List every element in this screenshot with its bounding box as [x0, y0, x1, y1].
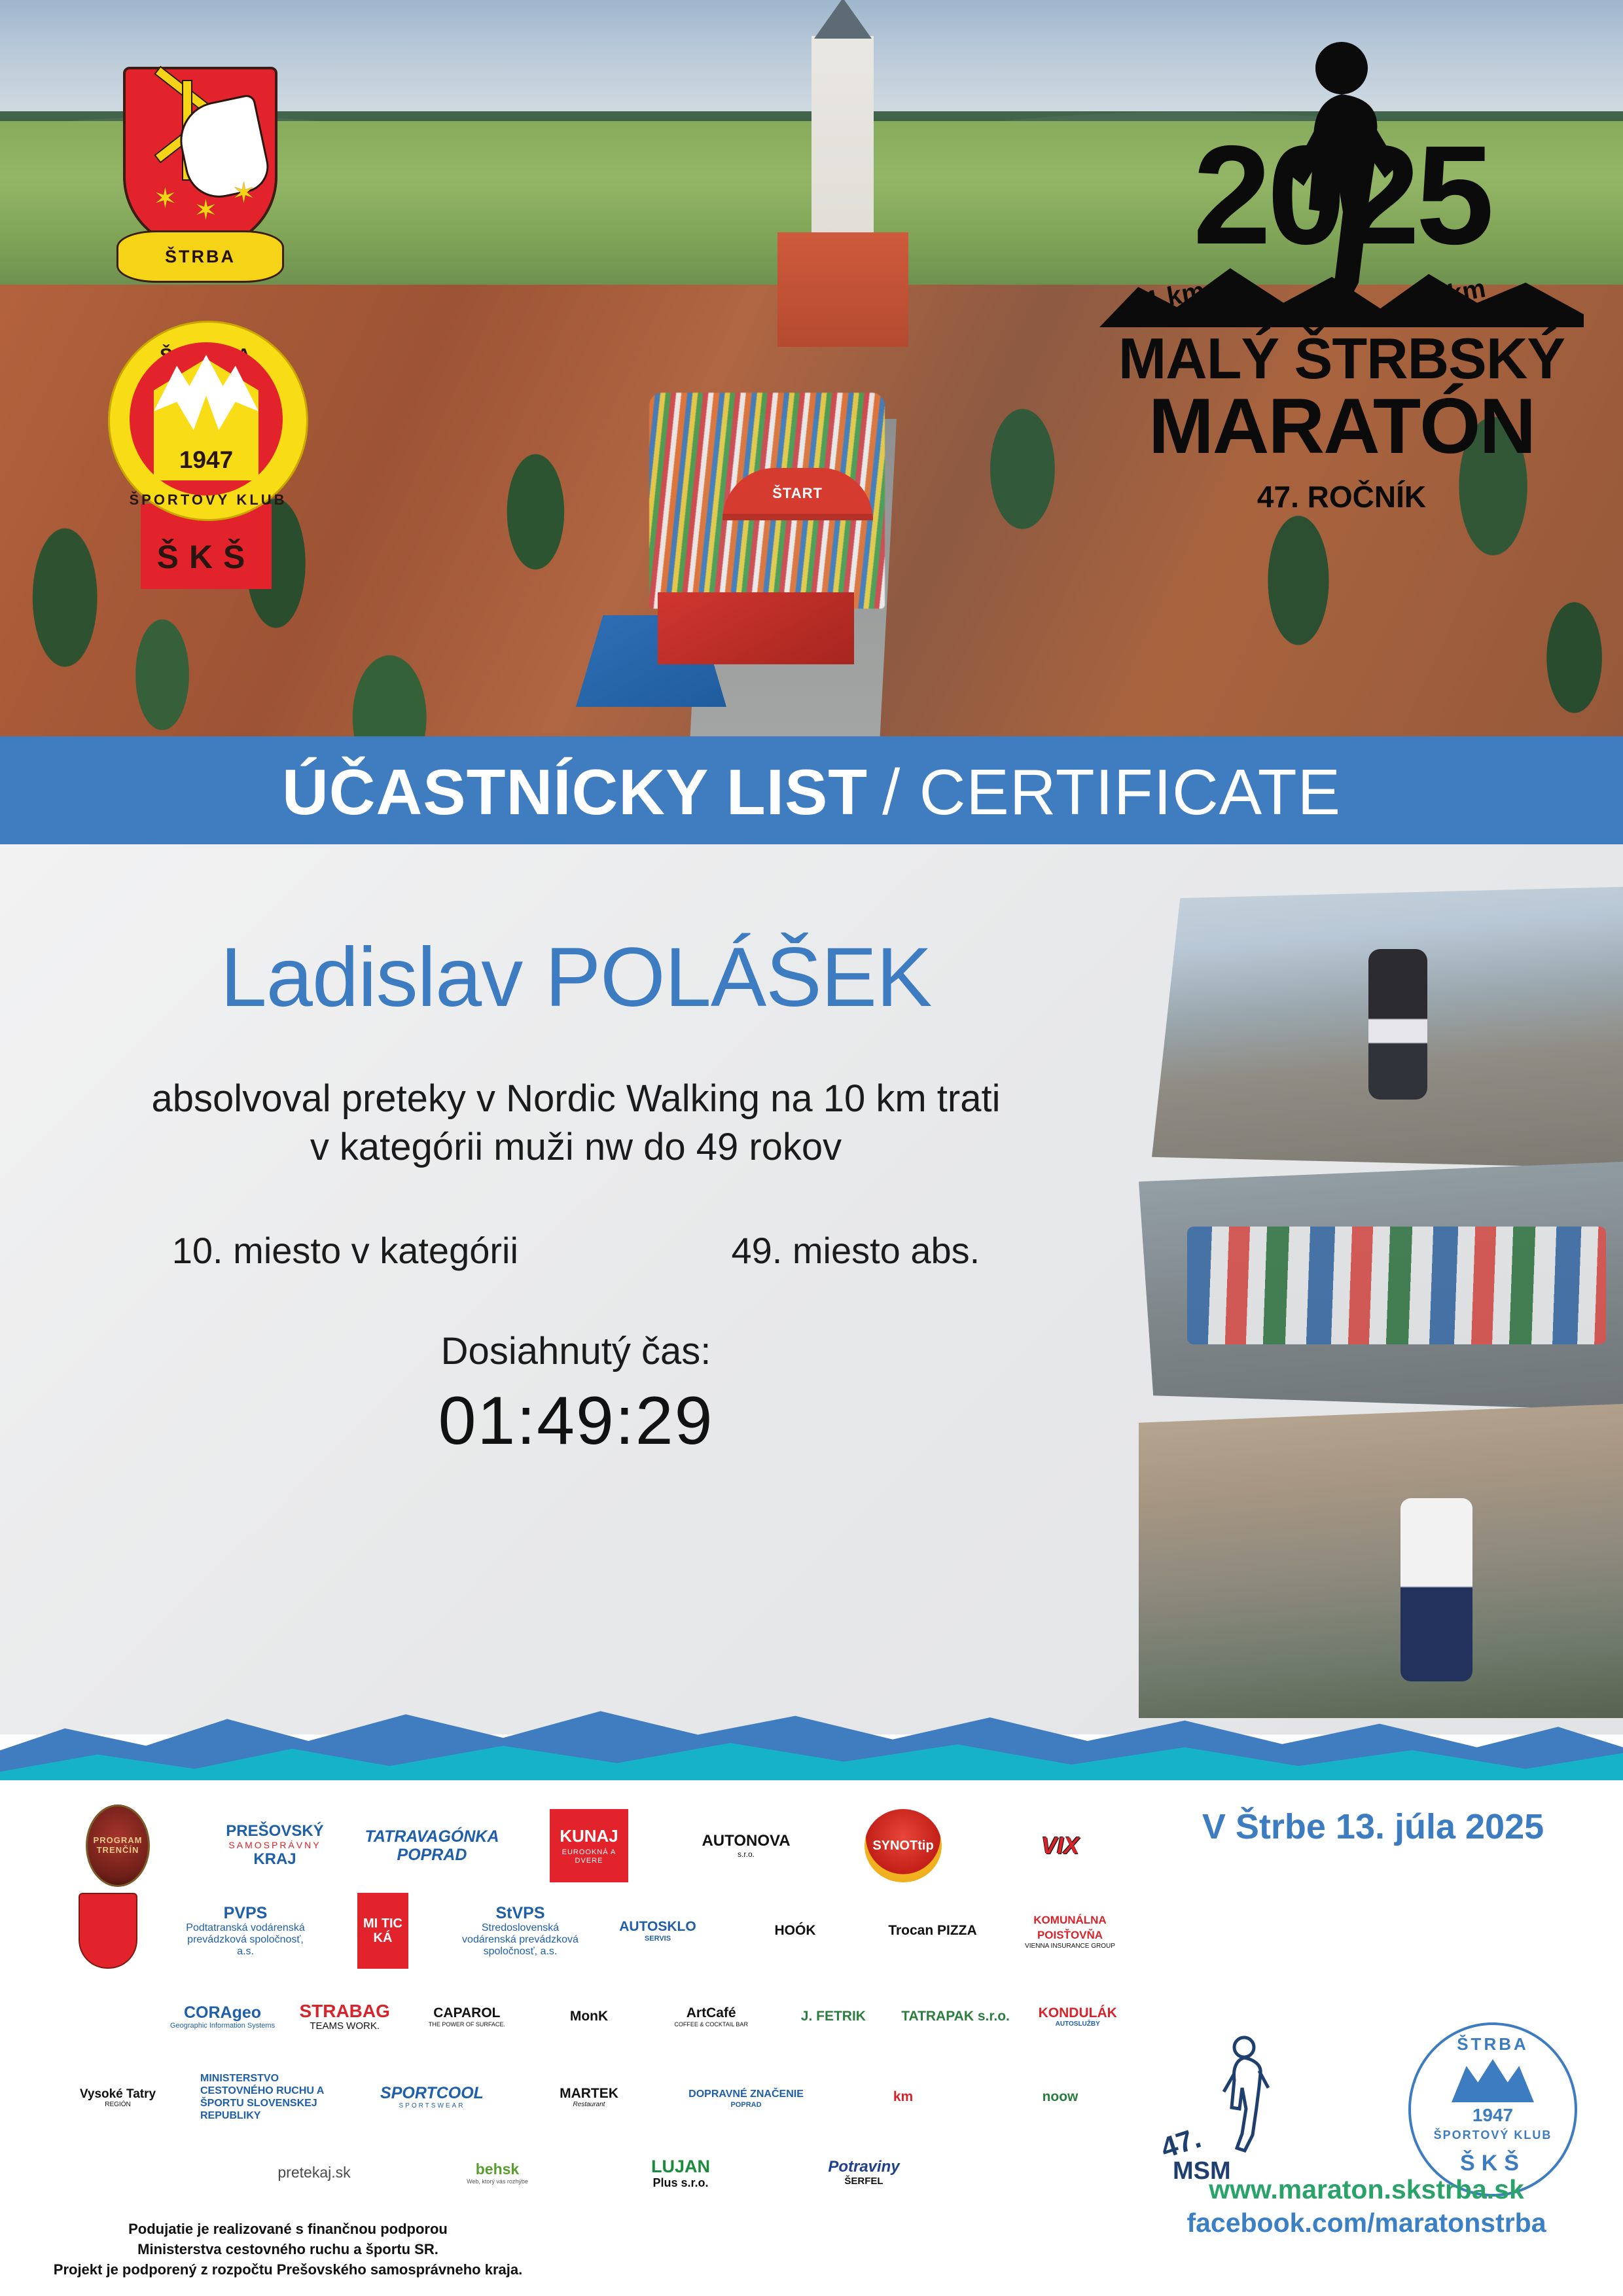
contact-links: www.maraton.skstrba.sk facebook.com/mara… [1144, 2173, 1589, 2240]
msm-runner-icon [1219, 2036, 1270, 2160]
sponsor-sublabel: COFFEE & COCKTAIL BAR [674, 2021, 748, 2028]
participant-name: Ladislav POLÁŠEK [0, 936, 1152, 1020]
sponsor-artcafe: ArtCafé COFFEE & COCKTAIL BAR [650, 1978, 772, 2055]
sks-top-label: ŠTRBA [1411, 2034, 1575, 2054]
website-link[interactable]: www.maraton.skstrba.sk [1144, 2173, 1589, 2206]
certificate-text-block: Ladislav POLÁŠEK absolvoval preteky v No… [0, 936, 1152, 1460]
sponsor-dopravne-znacenie: DOPRAVNÉ ZNAČENIE POPRAD [668, 2059, 825, 2135]
sponsor-komunalna-poistovna: KOMUNÁLNA POISŤOVŇA VIENNA INSURANCE GRO… [1001, 1892, 1139, 1970]
sponsor-label: Potraviny [828, 2158, 899, 2176]
church-building [811, 36, 874, 311]
sponsor-label: LUJAN [651, 2157, 710, 2176]
sponsor-spacer-c [955, 2138, 1139, 2208]
event-name-line2: MARATÓN [1099, 390, 1584, 462]
sponsor-martek: MARTEK Restaurant [510, 2059, 668, 2135]
sponsor-km-moto: km [825, 2059, 982, 2135]
sponsor-monk: MonK [528, 1978, 651, 2055]
runner-silhouette-icon [1283, 39, 1400, 321]
sks-bottom-label: ŠPORTOVÝ KLUB [1411, 2128, 1575, 2142]
title-en-label: / CERTIFICATE [882, 755, 1341, 829]
placement-row: 10. miesto v kategórii 49. miesto abs. [0, 1229, 1152, 1272]
sponsor-program-trencin: PROGRAM TRENČÍN [39, 1806, 196, 1885]
sponsor-j-fetrik: J. FETRIK [772, 1978, 895, 2055]
sponsor-pvps: PVPS Podtatranská vodárenská prevádzková… [177, 1892, 314, 1970]
sponsor-logo-mark: PROGRAM TRENČÍN [86, 1804, 150, 1887]
sponsor-sublabel: SPORTSWEAR [380, 2102, 484, 2109]
sponsor-label: SYNOTtip [865, 1809, 942, 1882]
sponsor-corageo: CORAgeo Geographic Information Systems [162, 1978, 284, 2055]
sponsor-lujan-plus: LUJAN Plus s.r.o. [589, 2138, 772, 2208]
sports-club-logo-icon: ŠTRBA ŠPORTOVÝ KLUB 1947 ŠKŠ [92, 308, 321, 622]
sponsor-label: MI TIC KÁ [357, 1893, 408, 1969]
sponsor-synot-tip: SYNOTtip [825, 1806, 982, 1885]
sponsor-sublabel: Podtatranská vodárenská prevádzková spol… [186, 1922, 304, 1957]
sponsor-miticka: MI TIC KÁ [314, 1892, 452, 1970]
strba-coat-of-arms-icon: ✶ ✶ ✶ ŠTRBA [116, 67, 280, 283]
sponsor-label: KUNAJ [560, 1827, 618, 1846]
coat-name-banner: ŠTRBA [116, 230, 284, 283]
description-line-1: absolvoval preteky v Nordic Walking na 1… [0, 1075, 1152, 1123]
sponsor-label: CAPAROL [433, 2005, 500, 2020]
sponsor-label: PREŠOVSKÝ [226, 1822, 323, 1840]
sponsor-row-2: PVPS Podtatranská vodárenská prevádzková… [39, 1892, 1139, 1970]
issue-date-label: V Štrbe 13. júla 2025 [1157, 1806, 1589, 1847]
sponsor-sublabel: POPRAD [688, 2101, 804, 2109]
sponsor-sublabel: s.r.o. [702, 1850, 790, 1859]
sponsor-spacer-b [39, 2138, 223, 2208]
sponsor-label: Vysoké Tatry [80, 2087, 156, 2101]
sponsor-stvps: StVPS Stredoslovenská vodárenská prevádz… [452, 1892, 589, 1970]
sponsor-label: DOPRAVNÉ ZNAČENIE [688, 2089, 804, 2100]
sponsor-vysoke-tatry: Vysoké Tatry REGIÓN [39, 2059, 196, 2135]
sponsor-tatravagonka-poprad: TATRAVAGÓNKA POPRAD [353, 1806, 510, 1885]
sponsor-sublabel: REGIÓN [80, 2101, 156, 2108]
sponsor-label: AUTOSKLO [619, 1919, 696, 1934]
sponsor-vix: VIX [982, 1806, 1139, 1885]
fine-print-line-3: Projekt je podporený z rozpočtu Prešovsk… [52, 2259, 524, 2280]
event-edition-label: 47. ROČNÍK [1099, 479, 1584, 514]
time-value: 01:49:29 [0, 1382, 1152, 1460]
description-block: absolvoval preteky v Nordic Walking na 1… [0, 1075, 1152, 1172]
sponsor-grid: PROGRAM TRENČÍN PREŠOVSKÝ SAMOSPRÁVNY KR… [39, 1800, 1139, 2219]
sponsor-autosklo-servis: AUTOSKLO SERVIS [589, 1892, 726, 1970]
sponsor-row-1: PROGRAM TRENČÍN PREŠOVSKÝ SAMOSPRÁVNY KR… [39, 1806, 1139, 1885]
certificate-title-band: ÚČASTNÍCKY LIST / CERTIFICATE [0, 736, 1623, 848]
crest-icon [79, 1893, 137, 1969]
sponsor-sublabel: ŠERFEL [828, 2176, 899, 2187]
sponsor-label: PVPS [181, 1904, 310, 1922]
sponsor-sublabel: Plus s.r.o. [651, 2176, 710, 2189]
place-absolute-label: 49. miesto abs. [731, 1229, 980, 1272]
coat-shield: ✶ ✶ ✶ [123, 67, 277, 249]
sponsor-row-5: pretekaj.sk behsk Web, ktorý vás rozhýbe… [39, 2138, 1139, 2208]
sponsor-kondulak: KONDULÁK AUTOSLUŽBY [1016, 1978, 1139, 2055]
sponsor-label: KONDULÁK [1039, 2005, 1117, 2020]
hero-photo: ✶ ✶ ✶ ŠTRBA ŠTRBA ŠPORTOVÝ KLUB 1947 ŠKŠ… [0, 0, 1623, 769]
footer: V Štrbe 13. júla 2025 PROGRAM TRENČÍN PR… [0, 1780, 1623, 2296]
club-abbrev-label: ŠKŠ [92, 538, 321, 576]
sponsor-autonova: AUTONOVA s.r.o. [668, 1806, 825, 1885]
club-year-label: 1947 [92, 446, 321, 474]
sponsor-sublabel: VIENNA INSURANCE GROUP [1005, 1943, 1135, 1950]
sponsor-sublabel: Geographic Information Systems [170, 2022, 275, 2030]
sponsor-sublabel: Stredoslovenská vodárenská prevádzková s… [462, 1922, 579, 1957]
coat-name-label: ŠTRBA [165, 247, 236, 267]
sponsor-sublabel: SAMOSPRÁVNY [226, 1840, 323, 1851]
fine-print-block: Podujatie je realizované s finančnou pod… [52, 2219, 524, 2280]
sponsor-strabag: STRABAG TEAMS WORK. [283, 1978, 406, 2055]
sponsor-ministerstvo: MINISTERSTVO CESTOVNÉHO RUCHU A ŠPORTU S… [196, 2059, 353, 2135]
sponsor-row-3: CORAgeo Geographic Information Systems S… [39, 1978, 1139, 2055]
sponsor-kunaj: KUNAJ EUROOKNÁ A DVERE [510, 1806, 668, 1885]
sponsor-row-4: Vysoké Tatry REGIÓN MINISTERSTVO CESTOVN… [39, 2059, 1139, 2135]
fine-print-line-2: Ministerstva cestovného ruchu a športu S… [52, 2239, 524, 2259]
sponsor-label: CORAgeo [184, 2003, 261, 2022]
coat-star-1: ✶ [153, 185, 177, 213]
event-logo: 2025 31 km 10 km MALÝ ŠTRBSKÝ MARATÓN 47… [1099, 39, 1584, 628]
event-name-line1: MALÝ ŠTRBSKÝ [1099, 332, 1584, 386]
photo-collage [1126, 887, 1623, 1731]
sks-badge-icon: ŠTRBA 1947 ŠPORTOVÝ KLUB ŠKŠ [1408, 2022, 1577, 2197]
sks-peaks-icon [1452, 2059, 1534, 2102]
sponsor-label: AUTONOVA [702, 1832, 790, 1850]
sponsor-label: behsk [476, 2161, 519, 2178]
sponsor-label: MARTEK [560, 2086, 618, 2101]
facebook-link[interactable]: facebook.com/maratonstrba [1144, 2206, 1589, 2240]
place-category-label: 10. miesto v kategórii [172, 1229, 518, 1272]
photo-finisher-female [1152, 887, 1623, 1168]
sponsor-beh-sk: behsk Web, ktorý vás rozhýbe [406, 2138, 589, 2208]
sponsor-label: StVPS [455, 1904, 585, 1922]
sponsor-liptovska-teplicka [39, 1892, 177, 1970]
sponsor-tatrapak: TATRAPAK s.r.o. [895, 1978, 1017, 2055]
time-label: Dosiahnutý čas: [0, 1329, 1152, 1373]
sponsor-sublabel: SERVIS [619, 1935, 696, 1943]
sponsor-sublabel: AUTOSLUŽBY [1039, 2020, 1117, 2028]
sponsor-sublabel: EUROOKNÁ A DVERE [550, 1848, 628, 1865]
sponsor-sublabel: Restaurant [560, 2101, 618, 2108]
sponsor-label: STRABAG [299, 2001, 389, 2021]
sks-year-label: 1947 [1411, 2105, 1575, 2126]
sponsor-pretekaj-sk: pretekaj.sk [223, 2138, 406, 2208]
sponsor-sportcool: SPORTCOOL SPORTSWEAR [353, 2059, 510, 2135]
sponsor-sublabel: Web, ktorý vás rozhýbe [467, 2178, 528, 2185]
sponsor-spacer-a [39, 1978, 162, 2055]
msm-badge-icon: 47. MSM [1158, 2029, 1309, 2193]
sponsor-hook: HOÓK [726, 1892, 864, 1970]
sponsor-label: ArtCafé [687, 2005, 736, 2020]
sponsor-trocan-pizza: Trocan PIZZA [864, 1892, 1001, 1970]
photo-runners-group [1139, 1162, 1623, 1410]
sponsor-noow: noow [982, 2059, 1139, 2135]
sponsor-potraviny-serfel: Potraviny ŠERFEL [772, 2138, 955, 2208]
fine-print-line-1: Podujatie je realizované s finančnou pod… [52, 2219, 524, 2239]
coat-star-3: ✶ [232, 179, 256, 208]
coat-star-2: ✶ [194, 196, 218, 225]
sponsor-sublabel: THE POWER OF SURFACE. [429, 2021, 505, 2028]
sponsor-label2: KRAJ [253, 1850, 296, 1868]
certificate-page: ✶ ✶ ✶ ŠTRBA ŠTRBA ŠPORTOVÝ KLUB 1947 ŠKŠ… [0, 0, 1623, 2296]
photo-finish-line [1139, 1404, 1623, 1718]
sponsor-sublabel: TEAMS WORK. [299, 2021, 389, 2032]
description-line-2: v kategórii muži nw do 49 rokov [0, 1123, 1152, 1172]
sponsor-label: SPORTCOOL [380, 2084, 484, 2102]
sponsor-presovsky-kraj: PREŠOVSKÝ SAMOSPRÁVNY KRAJ [196, 1806, 353, 1885]
sponsor-caparol: CAPAROL THE POWER OF SURFACE. [406, 1978, 528, 2055]
sponsor-label: KOMUNÁLNA POISŤOVŇA [1033, 1914, 1106, 1942]
title-sk-label: ÚČASTNÍCKY LIST [282, 755, 868, 829]
